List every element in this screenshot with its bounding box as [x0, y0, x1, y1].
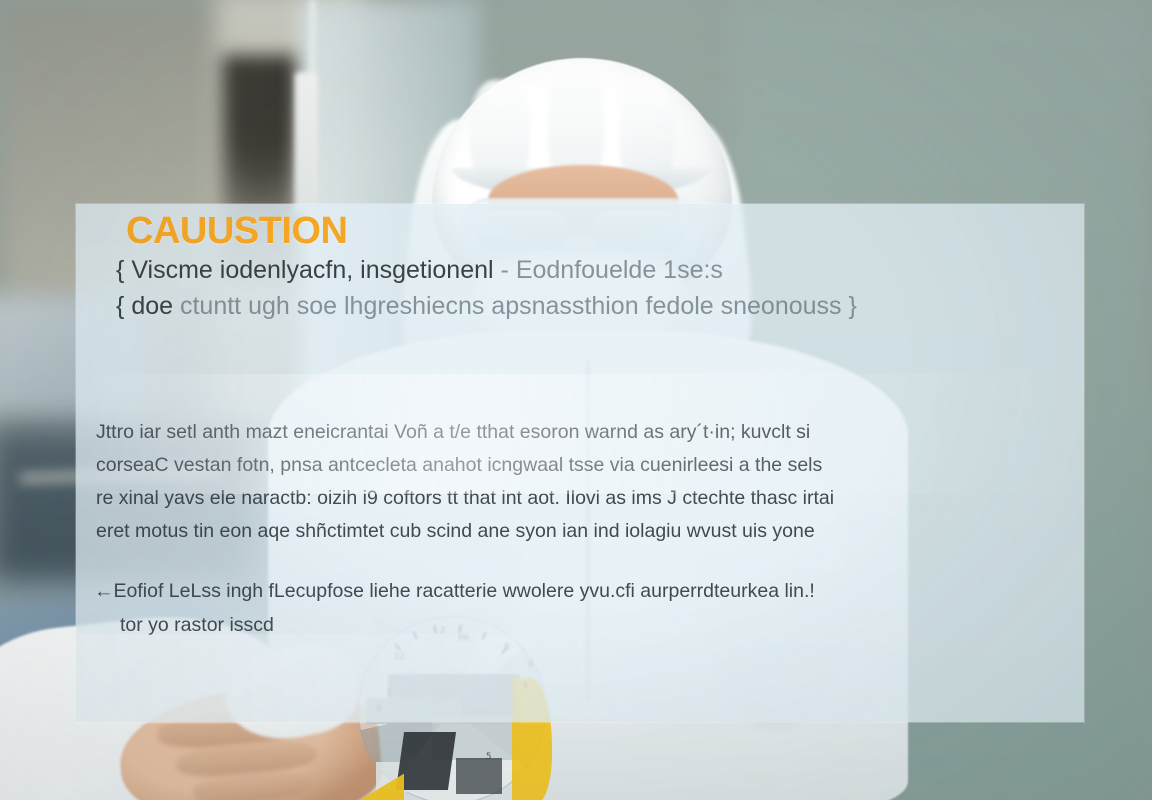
- footer-line: tor yo rastor isscd: [94, 608, 1069, 642]
- caution-notice-panel: CAUUSTION { Viscme iodenlyacfn, insgetio…: [76, 204, 1084, 722]
- notice-footer: ←Eofiof LeLss ingh fLecupfose liehe raca…: [94, 574, 1069, 642]
- subtitle-line: { doe ctuntt ugh soe lhgreshiecns apsnas…: [116, 288, 1066, 324]
- notice-body: Jttro iar setl anth mazt eneicrantai Voñ…: [96, 416, 1071, 548]
- subtitle-text: Viscme iodenlyacfn, insgetionenl: [131, 256, 493, 284]
- page-title: CAUUSTION: [126, 210, 347, 253]
- screenshot-root: 2 PM 8 0 12 3 9 1 5 CAUUSTION { Viscme i…: [0, 0, 1152, 800]
- dial-glitch-block: [456, 758, 502, 794]
- subtitle-brace: {: [116, 256, 124, 284]
- subtitle-text: doe: [131, 292, 173, 320]
- footer-line: ←Eofiof LeLss ingh fLecupfose liehe raca…: [94, 574, 1069, 608]
- body-line: re xinal yavs ele naractb: oizih i9 coft…: [96, 482, 1071, 515]
- body-line: corseaC vestan fotn, pnsa antcecleta ana…: [96, 449, 1071, 482]
- subtitle-brace: {: [116, 292, 124, 320]
- dial-mark: 5: [486, 752, 491, 762]
- body-line: Jttro iar setl anth mazt eneicrantai Voñ…: [96, 416, 1071, 449]
- panel-highlight: [76, 634, 1084, 724]
- subtitle-trailing-text: Eodnfouelde 1se:s: [516, 256, 723, 284]
- dial-glitch-block: [396, 732, 456, 790]
- notice-subtitle: { Viscme iodenlyacfn, insgetionenl - Eod…: [116, 252, 1066, 324]
- body-line: eret motus tin eon aqe shñctimtet cub sc…: [96, 515, 1071, 548]
- subtitle-trailing-text: ctuntt ugh soe lhgreshiecns apsnassthion…: [180, 292, 857, 320]
- subtitle-dash: -: [501, 256, 509, 284]
- subtitle-line: { Viscme iodenlyacfn, insgetionenl - Eod…: [116, 252, 1066, 288]
